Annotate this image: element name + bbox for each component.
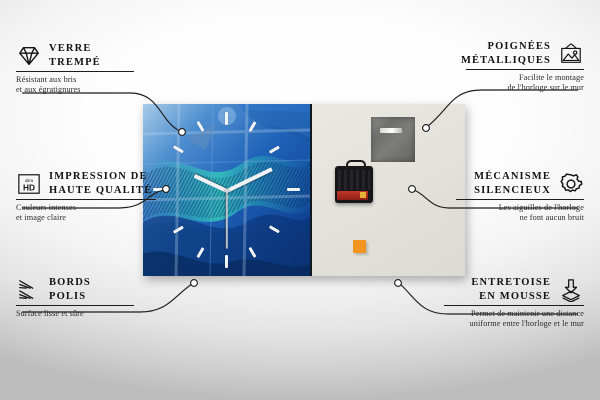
clock-second-hand <box>226 191 228 249</box>
feature-description: Facilite le montage de l'horloge sur le … <box>466 73 584 94</box>
feature-desc-line2: et image claire <box>16 213 66 222</box>
feature-title: MÉCANISME SILENCIEUX <box>474 170 551 197</box>
feature-poignees-metalliques: POIGNÉES MÉTALLIQUES Facilite le montage… <box>466 40 584 94</box>
ultra-hd-icon: ultra HD <box>16 172 42 196</box>
svg-text:HD: HD <box>23 182 35 192</box>
hour-marker <box>287 188 300 191</box>
feature-title: VERRE TREMPÉ <box>49 42 101 69</box>
feature-description: Les aiguilles de l'horloge ne font aucun… <box>456 203 584 224</box>
feature-header: MÉCANISME SILENCIEUX <box>456 170 584 197</box>
feature-description: Couleurs intenses et image claire <box>16 203 156 224</box>
feature-desc-line1: Surface lisse et sûre <box>16 309 84 318</box>
clock-back-panel <box>312 104 465 276</box>
feature-description: Résistant aux bris et aux égratignures <box>16 75 134 96</box>
feature-title-line2: EN MOUSSE <box>479 291 551 302</box>
feature-title-line2: POLIS <box>49 291 86 302</box>
feature-divider <box>444 305 584 306</box>
feature-desc-line2: et aux égratignures <box>16 85 81 94</box>
feature-divider <box>466 69 584 70</box>
battery-part <box>337 191 368 200</box>
feature-title-line2: SILENCIEUX <box>474 185 551 196</box>
connector-endpoint-bords-polis <box>191 280 198 287</box>
feature-title: BORDS POLIS <box>49 276 91 303</box>
feature-desc-line2: uniforme entre l'horloge et le mur <box>470 319 584 328</box>
clock-mechanism-part <box>335 166 373 203</box>
feature-description: Surface lisse et sûre <box>16 309 134 319</box>
feature-title-line1: IMPRESSION DE <box>49 171 148 182</box>
feature-desc-line1: Les aiguilles de l'horloge <box>499 203 584 212</box>
feature-title-line1: VERRE <box>49 43 92 54</box>
feature-desc-line2: ne font aucun bruit <box>520 213 584 222</box>
battery-terminal <box>360 192 366 198</box>
feature-header: POIGNÉES MÉTALLIQUES <box>466 40 584 67</box>
arrow-layers-icon <box>558 278 584 302</box>
infographic-canvas: VERRE TREMPÉ Résistant aux bris et aux é… <box>0 0 600 400</box>
feature-mecanisme-silencieux: MÉCANISME SILENCIEUX Les aiguilles de l'… <box>456 170 584 224</box>
feature-title: POIGNÉES MÉTALLIQUES <box>461 40 551 67</box>
product-image <box>143 104 465 276</box>
hour-marker <box>225 255 228 268</box>
feature-desc-line2: de l'horloge sur le mur <box>507 83 584 92</box>
framed-picture-icon <box>558 42 584 66</box>
feature-divider <box>16 71 134 72</box>
feature-header: ENTRETOISE EN MOUSSE <box>444 276 584 303</box>
mechanism-hook <box>346 160 366 170</box>
feature-desc-line1: Résistant aux bris <box>16 75 76 84</box>
feature-title-line1: BORDS <box>49 277 91 288</box>
feature-desc-line1: Facilite le montage <box>519 73 584 82</box>
clock-front-panel <box>143 104 312 276</box>
hanger-slot <box>380 128 402 133</box>
feature-title-line2: MÉTALLIQUES <box>461 55 551 66</box>
feature-header: ultra HD IMPRESSION DE HAUTE QUALITÉ <box>16 170 156 197</box>
diamond-icon <box>16 44 42 68</box>
connector-endpoint-entretoise <box>395 280 402 287</box>
feature-desc-line1: Permet de maintenir une distance <box>471 309 584 318</box>
feature-header: BORDS POLIS <box>16 276 134 303</box>
polished-edges-icon <box>16 278 42 302</box>
feature-title-line1: ENTRETOISE <box>471 277 551 288</box>
feature-title: ENTRETOISE EN MOUSSE <box>471 276 551 303</box>
feature-bords-polis: BORDS POLIS Surface lisse et sûre <box>16 276 134 319</box>
feature-title-line2: TREMPÉ <box>49 57 101 68</box>
feature-title: IMPRESSION DE HAUTE QUALITÉ <box>49 170 152 197</box>
feature-entretoise-mousse: ENTRETOISE EN MOUSSE Permet de maintenir… <box>444 276 584 330</box>
clock-center-hub <box>225 189 229 193</box>
feature-title-line1: MÉCANISME <box>474 171 551 182</box>
feature-divider <box>16 305 134 306</box>
feature-divider <box>16 199 156 200</box>
feature-title-line2: HAUTE QUALITÉ <box>49 185 152 196</box>
feature-desc-line1: Couleurs intenses <box>16 203 76 212</box>
feature-description: Permet de maintenir une distance uniform… <box>444 309 584 330</box>
feature-title-line1: POIGNÉES <box>488 41 551 52</box>
hour-marker <box>225 112 228 125</box>
feature-impression-haute-qualite: ultra HD IMPRESSION DE HAUTE QUALITÉ Cou… <box>16 170 156 224</box>
feature-divider <box>456 199 584 200</box>
gear-icon <box>558 172 584 196</box>
mechanism-texture <box>338 170 370 190</box>
feature-verre-trempe: VERRE TREMPÉ Résistant aux bris et aux é… <box>16 42 134 96</box>
feature-header: VERRE TREMPÉ <box>16 42 134 69</box>
foam-spacer-part <box>353 240 366 253</box>
metal-hanger-part <box>371 117 415 162</box>
